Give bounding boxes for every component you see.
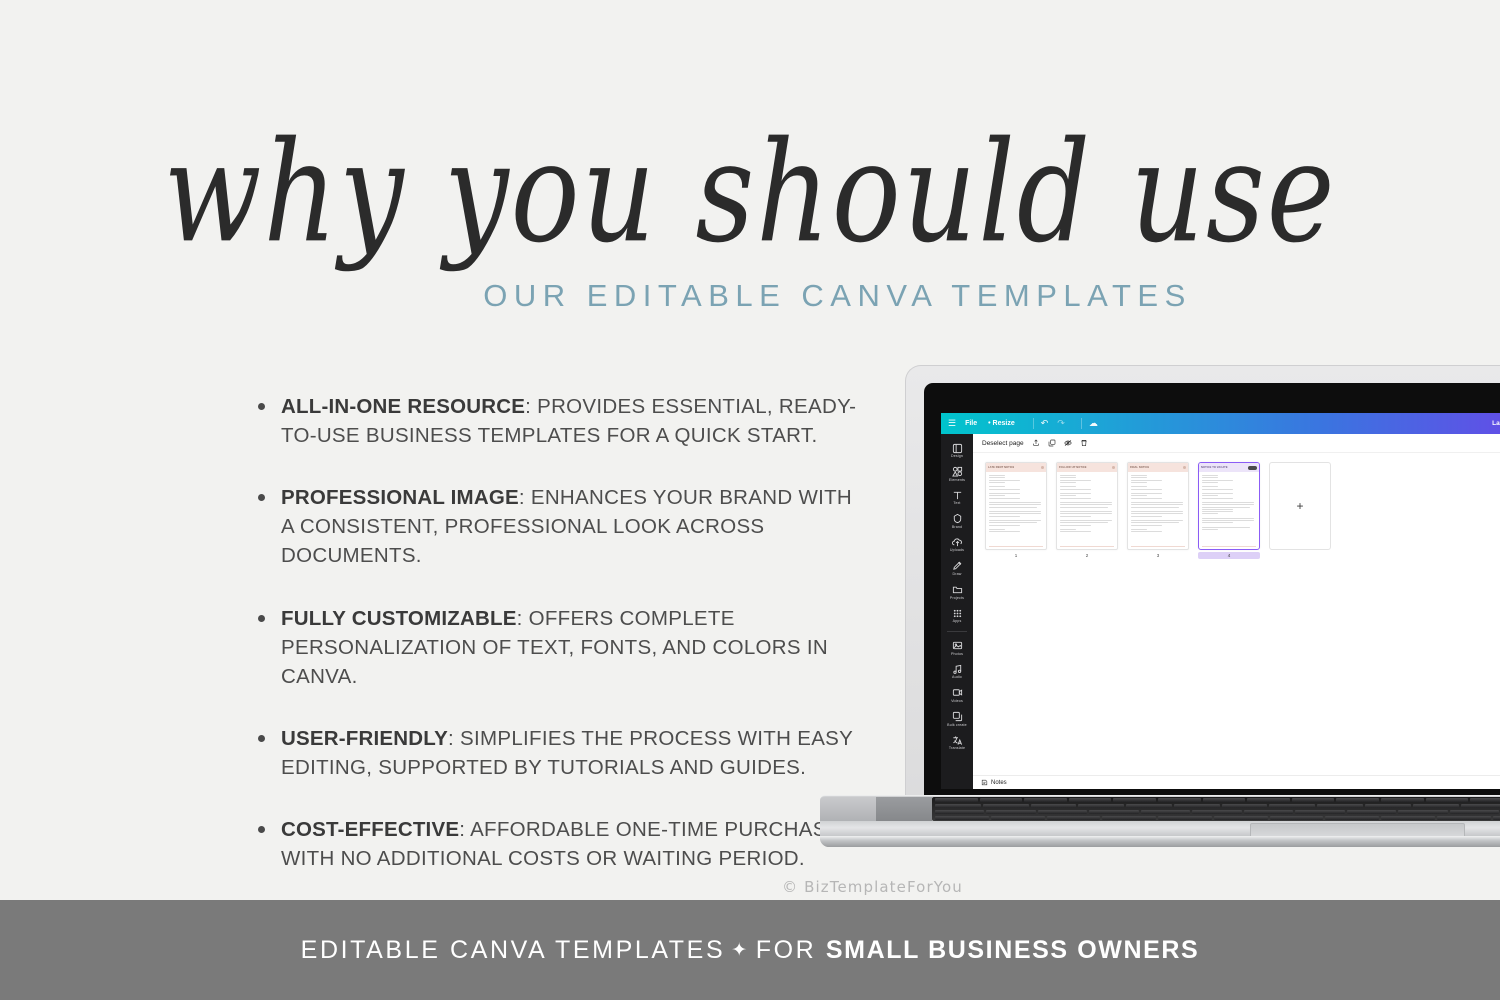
benefit-text: ALL-IN-ONE RESOURCE: PROVIDES ESSENTIAL,… (281, 392, 868, 450)
sidebar-item-apps[interactable]: Apps (941, 603, 973, 627)
canva-sidebar: Design Elements Text Brand (941, 434, 973, 789)
page-thumbnail-2[interactable]: FOLLOW UP NOTICE (1056, 462, 1118, 558)
benefit-text: USER-FRIENDLY: SIMPLIFIES THE PROCESS WI… (281, 724, 868, 782)
sidebar-label: Brand (952, 526, 962, 530)
page-header: NOTICE TO VACATE (1199, 463, 1259, 472)
elements-icon (952, 466, 963, 477)
sidebar-item-uploads[interactable]: Uploads (941, 532, 973, 556)
translate-icon (952, 735, 963, 746)
page-footer-rule (1202, 546, 1256, 547)
plus-icon: + (1296, 500, 1303, 512)
sidebar-item-draw[interactable]: Draw (941, 556, 973, 580)
text-icon (952, 490, 963, 501)
laptop-base-lip (820, 836, 1500, 847)
design-icon (952, 443, 963, 454)
toolbar-divider (1081, 418, 1082, 429)
list-item: USER-FRIENDLY: SIMPLIFIES THE PROCESS WI… (258, 724, 868, 782)
page-footer-rule (989, 546, 1043, 547)
audio-icon (952, 664, 963, 675)
page-number: 2 (1086, 553, 1089, 558)
benefit-lead: USER-FRIENDLY (281, 727, 448, 750)
draw-icon (952, 560, 963, 571)
keyboard-row (932, 815, 1500, 821)
page-header-dot-icon (1041, 466, 1044, 469)
sidebar-label: Design (951, 455, 963, 459)
sidebar-item-design[interactable]: Design (941, 438, 973, 462)
sidebar-item-brand[interactable]: Brand (941, 509, 973, 533)
add-page-button[interactable]: + (1269, 462, 1331, 550)
bullet-point-icon (258, 735, 265, 742)
undo-icon[interactable]: ↶ (1041, 419, 1049, 428)
footer-text: EDITABLE CANVA TEMPLATES✦FOR SMALL BUSIN… (301, 936, 1200, 965)
canva-top-bar: ☰ File • Resize ↶ ↷ ☁ Late Rent Notice •… (941, 413, 1500, 434)
sidebar-label: Draw (953, 573, 962, 577)
redo-icon[interactable]: ↷ (1057, 419, 1065, 428)
benefit-lead: PROFESSIONAL IMAGE (281, 486, 519, 509)
page-number: 4 (1198, 552, 1260, 559)
videos-icon (952, 687, 963, 698)
sidebar-item-photos[interactable]: Photos (941, 636, 973, 660)
notes-label: Notes (991, 780, 1007, 786)
deselect-page-button[interactable]: Deselect page (982, 440, 1024, 447)
diamond-separator-icon: ✦ (731, 940, 750, 961)
bulk-create-icon (952, 711, 963, 722)
page-toolbar: Deselect page (973, 434, 1500, 453)
page-number: 3 (1157, 553, 1160, 558)
sidebar-label: Bulk create (947, 724, 967, 728)
page-thumbnail-1[interactable]: LATE RENT NOTICE (985, 462, 1047, 558)
page-body-lines (1199, 472, 1259, 530)
sidebar-item-elements[interactable]: Elements (941, 462, 973, 486)
toolbar-divider (1033, 418, 1034, 429)
sidebar-item-videos[interactable]: Videos (941, 683, 973, 707)
page-body-lines (986, 472, 1046, 532)
sidebar-item-bulk-create[interactable]: Bulk create (941, 707, 973, 731)
sidebar-label: Elements (949, 479, 965, 483)
export-icon[interactable] (1032, 439, 1040, 447)
page-badge-icon (1248, 466, 1257, 470)
benefit-text: FULLY CUSTOMIZABLE: OFFERS COMPLETE PERS… (281, 604, 868, 691)
page-title: why you should use (23, 120, 1478, 266)
laptop-mockup: ☰ File • Resize ↶ ↷ ☁ Late Rent Notice •… (820, 365, 1500, 865)
sidebar-label: Uploads (950, 549, 964, 553)
laptop-base (820, 795, 1500, 847)
page-card[interactable]: FOLLOW UP NOTICE (1056, 462, 1118, 550)
bullet-point-icon (258, 494, 265, 501)
sidebar-item-translate[interactable]: Translate (941, 730, 973, 754)
benefit-text: COST-EFFECTIVE: AFFORDABLE ONE-TIME PURC… (281, 815, 868, 873)
duplicate-icon[interactable] (1048, 439, 1056, 447)
page-footer-rule (1131, 546, 1185, 547)
header-block: why you should use OUR EDITABLE CANVA TE… (0, 120, 1500, 314)
page-footer-rule (1060, 546, 1114, 547)
page-header-dot-icon (1183, 466, 1186, 469)
footer-lead: EDITABLE CANVA TEMPLATES (301, 936, 726, 964)
sidebar-divider (947, 631, 967, 632)
page-card-selected[interactable]: NOTICE TO VACATE (1198, 462, 1260, 550)
laptop-keyboard (932, 797, 1500, 821)
page-doc-title: NOTICE TO VACATE (1201, 466, 1228, 469)
sidebar-label: Apps (953, 620, 962, 624)
page-thumbnails: LATE RENT NOTICE (973, 453, 1500, 559)
benefit-lead: ALL-IN-ONE RESOURCE (281, 395, 525, 418)
notes-bar[interactable]: Notes (973, 775, 1500, 789)
sidebar-label: Videos (951, 700, 963, 704)
benefits-list: ALL-IN-ONE RESOURCE: PROVIDES ESSENTIAL,… (258, 392, 868, 873)
sidebar-label: Translate (949, 747, 965, 751)
canva-canvas-area: Deselect page LATE RENT NOTICE (973, 434, 1500, 789)
page-header-dot-icon (1112, 466, 1115, 469)
page-thumbnail-3[interactable]: FINAL NOTICE (1127, 462, 1189, 558)
sidebar-label: Text (953, 502, 960, 506)
benefit-text: PROFESSIONAL IMAGE: ENHANCES YOUR BRAND … (281, 483, 868, 570)
bullet-point-icon (258, 615, 265, 622)
page-doc-title: FINAL NOTICE (1130, 466, 1149, 469)
document-title[interactable]: Late Rent Notice • Follow Up • Fin (1492, 420, 1500, 427)
delete-icon[interactable] (1080, 439, 1088, 447)
hamburger-icon[interactable]: ☰ (948, 419, 956, 428)
sidebar-label: Projects (950, 597, 964, 601)
cloud-save-icon[interactable]: ☁ (1089, 419, 1098, 428)
page-doc-title: FOLLOW UP NOTICE (1059, 466, 1087, 469)
page-body-lines (1128, 472, 1188, 532)
sidebar-item-projects[interactable]: Projects (941, 580, 973, 604)
page-thumbnail-4[interactable]: NOTICE TO VACATE (1198, 462, 1260, 559)
footer-banner: EDITABLE CANVA TEMPLATES✦FOR SMALL BUSIN… (0, 900, 1500, 1000)
add-page-card[interactable]: + (1269, 462, 1331, 550)
list-item: ALL-IN-ONE RESOURCE: PROVIDES ESSENTIAL,… (258, 392, 868, 450)
footer-strong: SMALL BUSINESS OWNERS (826, 936, 1199, 964)
apps-icon (952, 608, 963, 619)
projects-icon (952, 584, 963, 595)
page-header: FINAL NOTICE (1128, 463, 1188, 472)
page-card[interactable]: LATE RENT NOTICE (985, 462, 1047, 550)
laptop-lid: ☰ File • Resize ↶ ↷ ☁ Late Rent Notice •… (905, 365, 1500, 797)
bullet-point-icon (258, 403, 265, 410)
canva-app: ☰ File • Resize ↶ ↷ ☁ Late Rent Notice •… (941, 413, 1500, 789)
laptop-screen: ☰ File • Resize ↶ ↷ ☁ Late Rent Notice •… (924, 383, 1500, 797)
sidebar-item-text[interactable]: Text (941, 485, 973, 509)
page-subtitle: OUR EDITABLE CANVA TEMPLATES (0, 278, 1500, 314)
watermark-credit: © BizTemplateForYou (0, 878, 1500, 896)
page-doc-title: LATE RENT NOTICE (988, 466, 1014, 469)
sidebar-label: Audio (952, 676, 962, 680)
brand-icon (952, 513, 963, 524)
page-card[interactable]: FINAL NOTICE (1127, 462, 1189, 550)
sidebar-label: Photos (951, 653, 963, 657)
resize-button[interactable]: • Resize (988, 420, 1015, 427)
file-menu-button[interactable]: File (965, 420, 977, 427)
canva-body: Design Elements Text Brand (941, 434, 1500, 789)
list-item: COST-EFFECTIVE: AFFORDABLE ONE-TIME PURC… (258, 815, 868, 873)
list-item: PROFESSIONAL IMAGE: ENHANCES YOUR BRAND … (258, 483, 868, 570)
page-body-lines (1057, 472, 1117, 532)
page-header: FOLLOW UP NOTICE (1057, 463, 1117, 472)
uploads-icon (952, 537, 963, 548)
benefit-lead: FULLY CUSTOMIZABLE (281, 607, 517, 630)
sidebar-item-audio[interactable]: Audio (941, 659, 973, 683)
page-header: LATE RENT NOTICE (986, 463, 1046, 472)
laptop-base-notch (876, 797, 932, 821)
hide-page-icon[interactable] (1064, 439, 1072, 447)
list-item: FULLY CUSTOMIZABLE: OFFERS COMPLETE PERS… (258, 604, 868, 691)
footer-middle: FOR (756, 936, 817, 964)
notes-icon (981, 779, 988, 786)
benefit-lead: COST-EFFECTIVE (281, 818, 459, 841)
photos-icon (952, 640, 963, 651)
page-number: 1 (1015, 553, 1018, 558)
bullet-point-icon (258, 826, 265, 833)
